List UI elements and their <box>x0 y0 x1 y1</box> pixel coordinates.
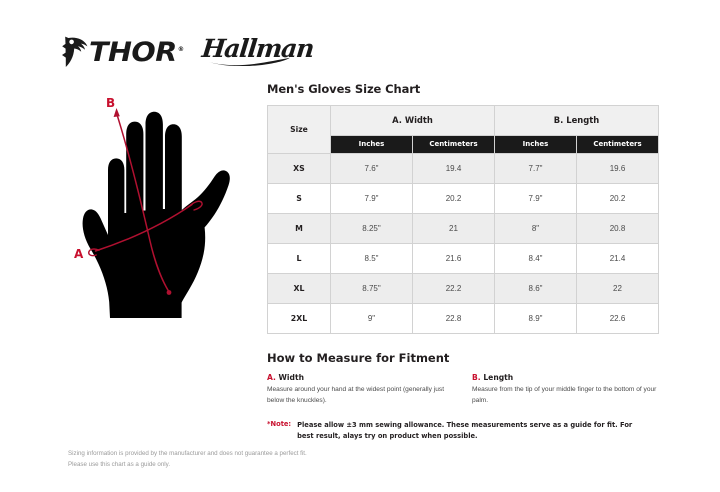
fitment-body: Measure around your hand at the widest p… <box>267 385 454 406</box>
cell-size: XL <box>268 274 331 304</box>
table-head: Size A. Width B. Length Inches Centimete… <box>268 106 659 154</box>
header-length-inches: Inches <box>495 135 577 153</box>
cell-length-inches: 8" <box>495 214 577 244</box>
fitment-heading: A. Width <box>267 373 454 382</box>
header-length-centimeters: Centimeters <box>577 135 659 153</box>
cell-width-inches: 8.5" <box>331 244 413 274</box>
fitment-heading: B. Length <box>472 373 659 382</box>
header-group-length: B. Length <box>495 106 659 136</box>
table-row: L 8.5" 21.6 8.4" 21.4 <box>268 244 659 274</box>
note-text: Please allow ±3 mm sewing allowance. The… <box>297 420 649 442</box>
cell-length-centimeters: 20.2 <box>577 184 659 214</box>
cell-size: S <box>268 184 331 214</box>
cell-width-inches: 9" <box>331 304 413 334</box>
cell-length-inches: 8.4" <box>495 244 577 274</box>
cell-length-centimeters: 19.6 <box>577 154 659 184</box>
cell-length-inches: 8.9" <box>495 304 577 334</box>
cell-width-centimeters: 19.4 <box>413 154 495 184</box>
thor-wordmark: THOR® <box>89 39 184 66</box>
table-row: S 7.9" 20.2 7.9" 20.2 <box>268 184 659 214</box>
table-head-row-groups: Size A. Width B. Length <box>268 106 659 136</box>
cell-length-centimeters: 20.8 <box>577 214 659 244</box>
cell-size: 2XL <box>268 304 331 334</box>
header-size: Size <box>268 106 331 154</box>
fitment-body: Measure from the tip of your middle fing… <box>472 385 659 406</box>
hallman-wordmark: Hallman <box>201 36 315 61</box>
fitment-name: Width <box>276 373 304 382</box>
page-title: Men's Gloves Size Chart <box>267 82 659 96</box>
header-width-inches: Inches <box>331 135 413 153</box>
cell-length-inches: 8.6" <box>495 274 577 304</box>
size-chart-table: Size A. Width B. Length Inches Centimete… <box>267 105 659 334</box>
fitment-name: Length <box>481 373 514 382</box>
footer-disclaimer: Sizing information is provided by the ma… <box>68 449 398 471</box>
note-block: *Note: Please allow ±3 mm sewing allowan… <box>267 420 659 442</box>
footer-line-1: Sizing information is provided by the ma… <box>68 449 398 460</box>
fitment-item-length: B. Length Measure from the tip of your m… <box>472 373 659 406</box>
diagram-label-b: B <box>106 96 115 110</box>
table-row: M 8.25" 21 8" 20.8 <box>268 214 659 244</box>
cell-length-inches: 7.7" <box>495 154 577 184</box>
fitment-letter: A. <box>267 373 276 382</box>
length-endpoint-dot <box>167 290 172 295</box>
fitment-letter: B. <box>472 373 481 382</box>
cell-length-inches: 7.9" <box>495 184 577 214</box>
table-row: 2XL 9" 22.8 8.9" 22.6 <box>268 304 659 334</box>
footer-line-2: Please use this chart as a guide only. <box>68 460 398 471</box>
header-group-width: A. Width <box>331 106 495 136</box>
table-row: XS 7.6" 19.4 7.7" 19.6 <box>268 154 659 184</box>
cell-width-centimeters: 21 <box>413 214 495 244</box>
cell-length-centimeters: 22 <box>577 274 659 304</box>
cell-width-inches: 8.25" <box>331 214 413 244</box>
cell-width-centimeters: 22.2 <box>413 274 495 304</box>
content-column: Men's Gloves Size Chart Size A. Width B.… <box>267 82 659 442</box>
thor-hawk-icon <box>62 36 88 67</box>
cell-size: L <box>268 244 331 274</box>
size-chart-page: THOR® Hallman <box>0 0 720 492</box>
brand-header: THOR® Hallman <box>62 30 314 72</box>
cell-size: M <box>268 214 331 244</box>
cell-width-centimeters: 22.8 <box>413 304 495 334</box>
table-row: XL 8.75" 22.2 8.6" 22 <box>268 274 659 304</box>
fitment-title: How to Measure for Fitment <box>267 351 659 365</box>
header-width-centimeters: Centimeters <box>413 135 495 153</box>
fitment-section: How to Measure for Fitment A. Width Meas… <box>267 351 659 406</box>
cell-size: XS <box>268 154 331 184</box>
glove-silhouette <box>83 112 230 318</box>
hallman-logo: Hallman <box>202 36 313 66</box>
table-body: XS 7.6" 19.4 7.7" 19.6 S 7.9" 20.2 7.9" … <box>268 154 659 334</box>
registered-mark: ® <box>178 46 184 53</box>
diagram-label-a: A <box>74 247 84 261</box>
note-label: *Note: <box>267 420 291 428</box>
cell-length-centimeters: 22.6 <box>577 304 659 334</box>
cell-width-centimeters: 21.6 <box>413 244 495 274</box>
cell-width-inches: 7.9" <box>331 184 413 214</box>
cell-width-centimeters: 20.2 <box>413 184 495 214</box>
thor-logo: THOR® <box>62 36 178 67</box>
glove-measurement-diagram: B A <box>68 96 264 318</box>
cell-width-inches: 8.75" <box>331 274 413 304</box>
cell-width-inches: 7.6" <box>331 154 413 184</box>
cell-length-centimeters: 21.4 <box>577 244 659 274</box>
fitment-item-width: A. Width Measure around your hand at the… <box>267 373 454 406</box>
